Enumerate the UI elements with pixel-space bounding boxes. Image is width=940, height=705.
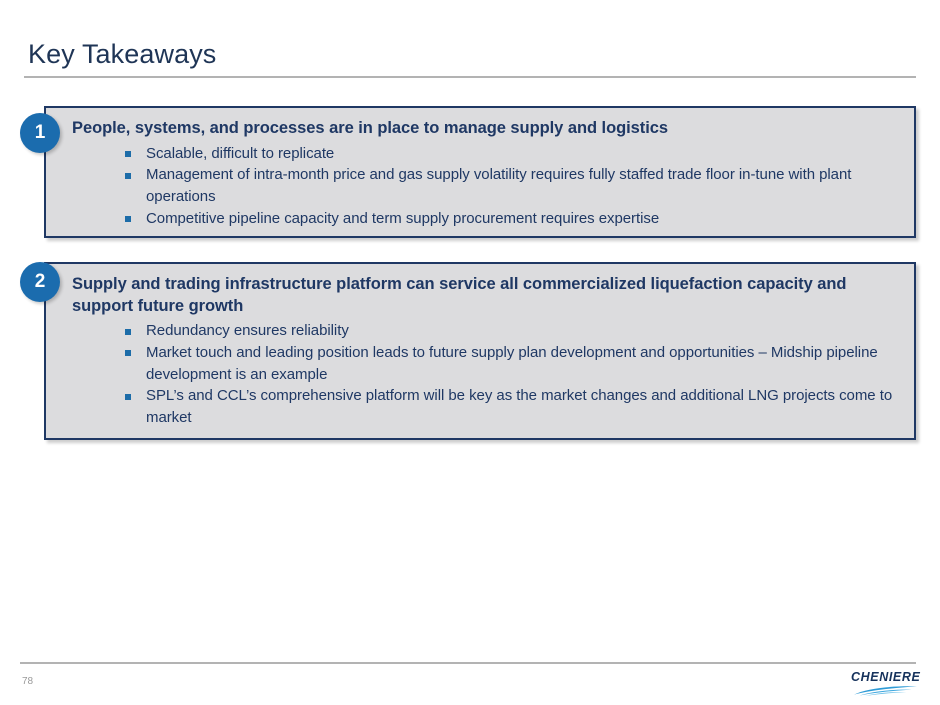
page-number: 78 bbox=[22, 676, 33, 687]
bullet-list-2: Redundancy ensures reliability Market to… bbox=[72, 320, 900, 429]
square-bullet-icon bbox=[125, 151, 131, 157]
callout-badge-2: 2 bbox=[20, 262, 60, 302]
square-bullet-icon bbox=[125, 350, 131, 356]
list-item-text: Competitive pipeline capacity and term s… bbox=[146, 210, 659, 227]
list-item-text: Market touch and leading position leads … bbox=[146, 344, 878, 383]
list-item: Redundancy ensures reliability bbox=[72, 320, 900, 342]
callout-box-2: Supply and trading infrastructure platfo… bbox=[44, 262, 916, 440]
square-bullet-icon bbox=[125, 173, 131, 179]
callout-content-2: Supply and trading infrastructure platfo… bbox=[72, 274, 900, 429]
callout-content-1: People, systems, and processes are in pl… bbox=[72, 118, 900, 230]
cheniere-wordmark: CHENIERE bbox=[851, 670, 920, 684]
square-bullet-icon bbox=[125, 216, 131, 222]
square-bullet-icon bbox=[125, 394, 131, 400]
cheniere-logo: CHENIERE bbox=[851, 670, 921, 698]
bullet-list-1: Scalable, difficult to replicate Managem… bbox=[72, 143, 900, 230]
list-item-text: SPL’s and CCL’s comprehensive platform w… bbox=[146, 387, 892, 426]
list-item: Scalable, difficult to replicate bbox=[72, 143, 900, 165]
callout-box-1: People, systems, and processes are in pl… bbox=[44, 106, 916, 238]
title-divider bbox=[24, 76, 916, 78]
list-item-text: Management of intra-month price and gas … bbox=[146, 166, 851, 205]
list-item: Management of intra-month price and gas … bbox=[72, 164, 900, 208]
list-item-text: Scalable, difficult to replicate bbox=[146, 145, 334, 162]
footer-divider bbox=[20, 662, 916, 664]
callout-heading-1: People, systems, and processes are in pl… bbox=[72, 118, 900, 140]
list-item: Market touch and leading position leads … bbox=[72, 342, 900, 386]
list-item: SPL’s and CCL’s comprehensive platform w… bbox=[72, 385, 900, 429]
list-item: Competitive pipeline capacity and term s… bbox=[72, 208, 900, 230]
callout-badge-1: 1 bbox=[20, 113, 60, 153]
square-bullet-icon bbox=[125, 329, 131, 335]
swoosh-icon bbox=[853, 685, 919, 696]
callout-heading-2: Supply and trading infrastructure platfo… bbox=[72, 274, 900, 317]
list-item-text: Redundancy ensures reliability bbox=[146, 322, 349, 339]
page-title: Key Takeaways bbox=[28, 38, 216, 70]
